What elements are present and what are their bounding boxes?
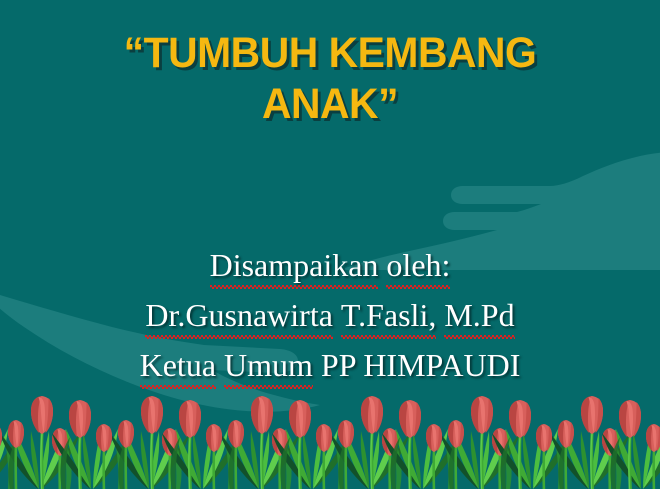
subtitle-space: [378, 247, 386, 283]
title-line-1: “TUMBUH KEMBANG: [17, 28, 644, 79]
subtitle-token: Umum: [224, 340, 313, 390]
subtitle-token: Dr.Gusnawirta: [145, 290, 333, 340]
subtitle-token: M.Pd: [444, 290, 514, 340]
subtitle-line-3: Ketua Umum PP HIMPAUDI: [0, 340, 660, 390]
tulip-flower-border: [0, 393, 660, 489]
subtitle-line-1: Disampaikan oleh:: [0, 240, 660, 290]
subtitle-token: Ketua: [140, 340, 216, 390]
subtitle-space: [333, 297, 341, 333]
slide-subtitle: Disampaikan oleh: Dr.Gusnawirta T.Fasli,…: [0, 240, 660, 390]
presentation-slide: “TUMBUH KEMBANG ANAK” Disampaikan oleh: …: [0, 0, 660, 489]
subtitle-token: Disampaikan: [210, 240, 379, 290]
slide-title: “TUMBUH KEMBANG ANAK”: [0, 28, 660, 130]
subtitle-token: PP HIMPAUDI: [313, 347, 520, 383]
title-line-2: ANAK”: [17, 79, 644, 130]
subtitle-token: oleh:: [386, 240, 450, 290]
subtitle-token: T.Fasli,: [341, 290, 436, 340]
tulip-border-graphic: [0, 393, 660, 489]
subtitle-line-2: Dr.Gusnawirta T.Fasli, M.Pd: [0, 290, 660, 340]
subtitle-space: [216, 347, 224, 383]
